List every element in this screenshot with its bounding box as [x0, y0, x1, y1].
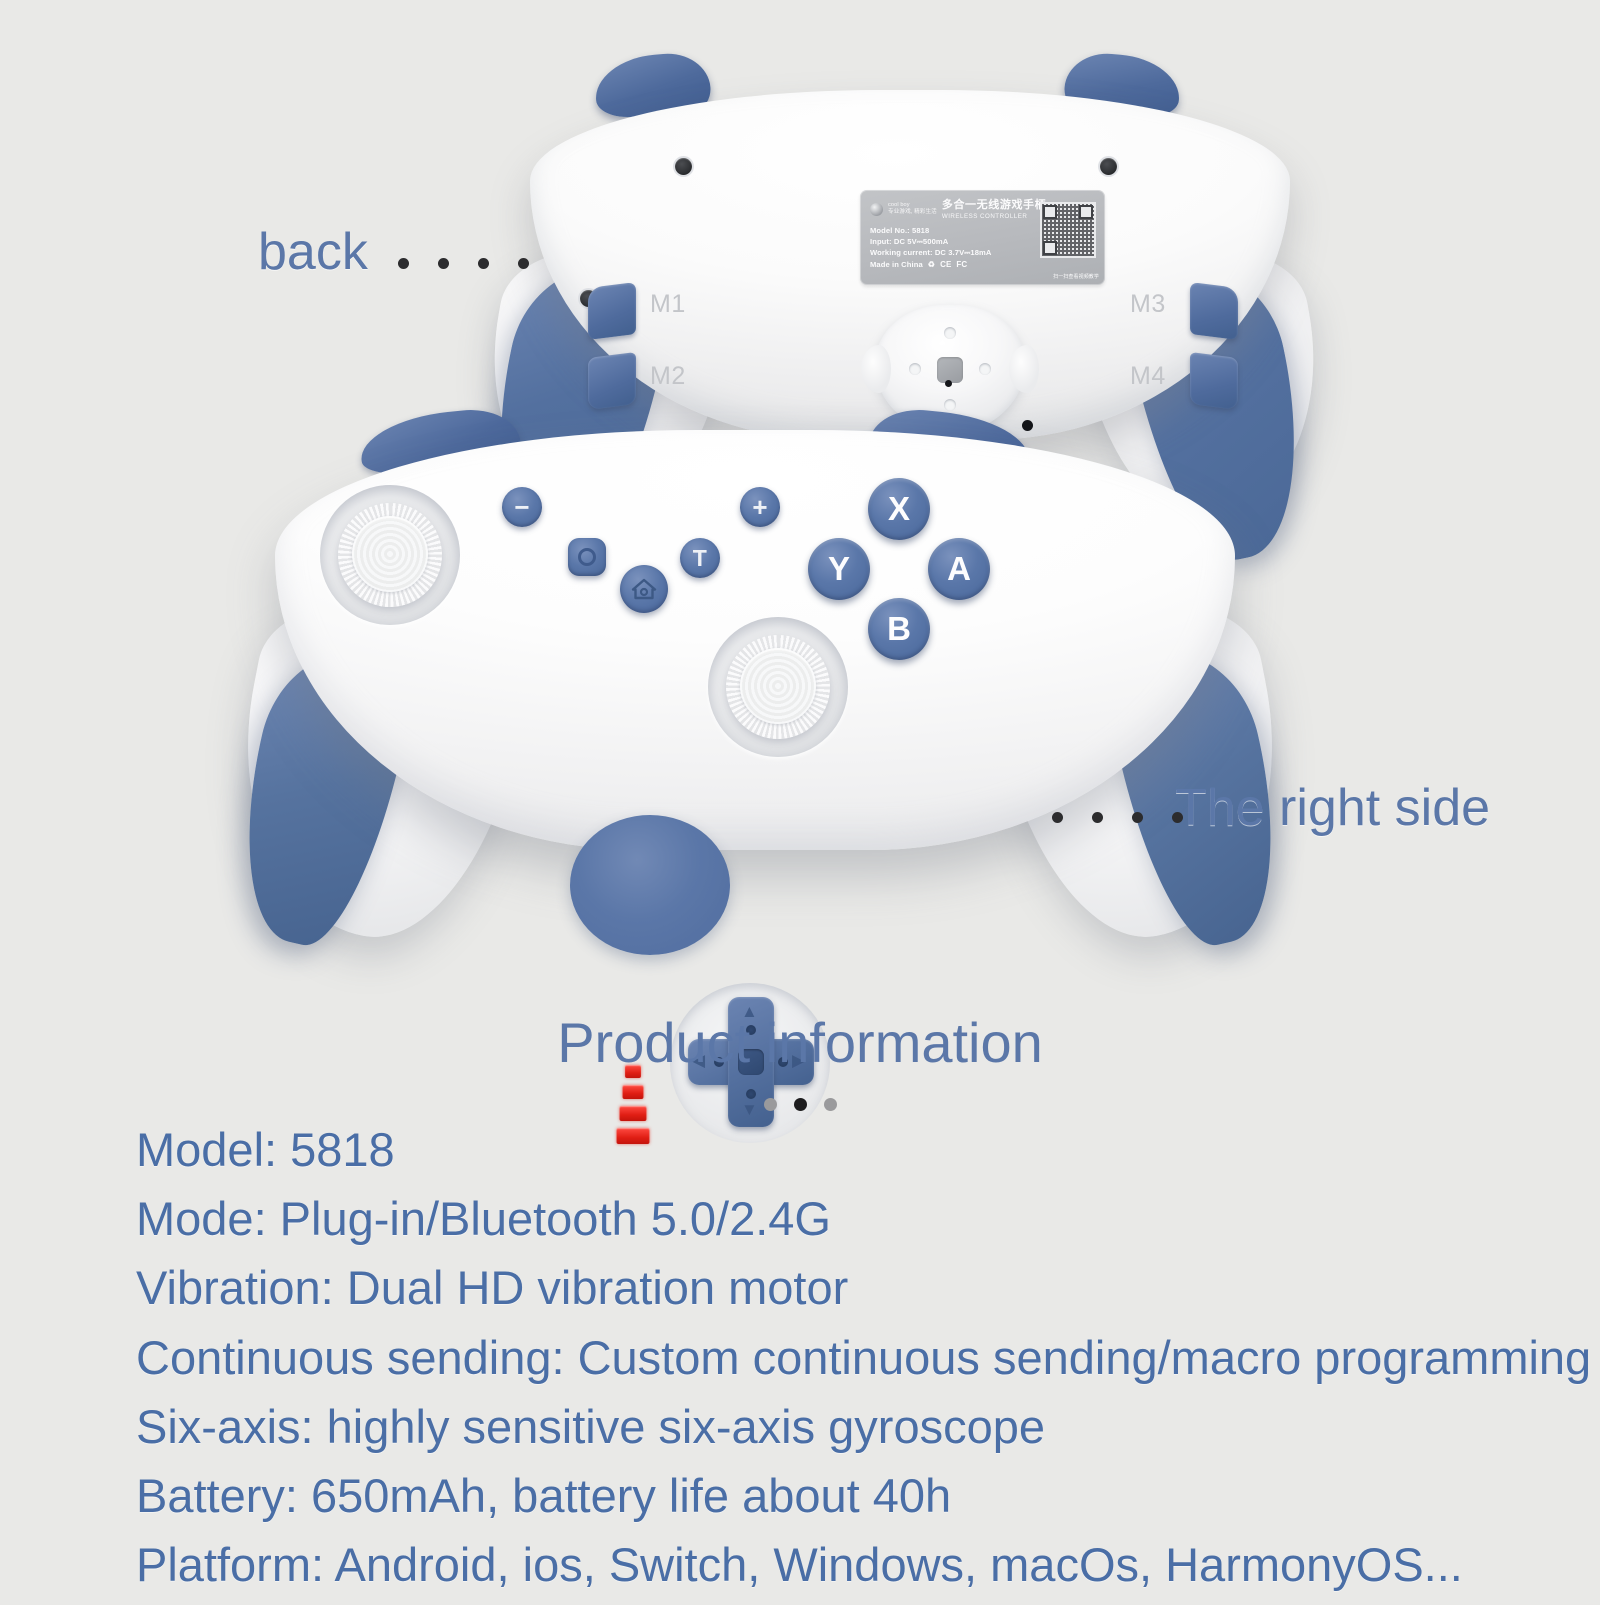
- product-rating-label: cool boy 专业游戏, 精彩生活 多合一无线游戏手柄 WIRELESS C…: [860, 190, 1105, 285]
- sensor-hole-icon: [945, 380, 952, 387]
- spec-item-mode: Mode: Plug-in/Bluetooth 5.0/2.4G: [136, 1189, 1556, 1248]
- macro-label-m4: M4: [1130, 362, 1166, 391]
- label-brand-cn: 多合一无线游戏手柄: [942, 198, 1046, 213]
- turbo-label: T: [693, 545, 708, 572]
- vent-hole: [944, 327, 956, 339]
- screw-icon: [1100, 158, 1117, 175]
- home-button[interactable]: [620, 565, 668, 613]
- spec-item-model: Model: 5818: [136, 1120, 1556, 1179]
- face-button-y[interactable]: Y: [808, 538, 870, 600]
- label-qr-caption: 扫一扫查看视频教学: [1053, 274, 1099, 281]
- capture-icon: [578, 548, 596, 566]
- face-button-b[interactable]: B: [868, 598, 930, 660]
- pad-center-square: [937, 357, 963, 383]
- specification-list: Model: 5818 Mode: Plug-in/Bluetooth 5.0/…: [136, 1120, 1556, 1605]
- fcc-mark-icon: FC: [956, 259, 967, 271]
- macro-label-m3: M3: [1130, 290, 1166, 319]
- macro-button-m1[interactable]: [588, 282, 636, 340]
- capture-button[interactable]: [568, 538, 606, 576]
- qr-code-icon: [1040, 202, 1096, 258]
- macro-button-m4[interactable]: [1190, 352, 1238, 410]
- spec-item-vibration: Vibration: Dual HD vibration motor: [136, 1258, 1556, 1317]
- ce-mark-icon: CE: [940, 259, 951, 271]
- macro-label-m2: M2: [650, 362, 686, 391]
- callout-back-dots: [398, 258, 529, 269]
- spec-item-platform: Platform: Android, ios, Switch, Windows,…: [136, 1535, 1556, 1594]
- callout-right-dots: [1052, 812, 1183, 823]
- spec-item-battery: Battery: 650mAh, battery life about 40h: [136, 1466, 1556, 1525]
- spec-item-six-axis: Six-axis: highly sensitive six-axis gyro…: [136, 1397, 1556, 1456]
- brand-logo-icon: [870, 203, 883, 216]
- label-brand-small-cn: 专业游戏, 精彩生活: [888, 209, 937, 216]
- face-button-x[interactable]: X: [868, 478, 930, 540]
- wee-bin-icon: ♻: [928, 259, 935, 271]
- vent-hole: [979, 363, 991, 375]
- spec-item-continuous: Continuous sending: Custom continuous se…: [136, 1328, 1556, 1387]
- screw-icon: [675, 158, 692, 175]
- callout-back-label: back: [258, 222, 368, 282]
- analog-stick-right[interactable]: [708, 617, 848, 757]
- home-icon: [631, 577, 657, 601]
- face-button-a[interactable]: A: [928, 538, 990, 600]
- infographic-canvas: cool boy 专业游戏, 精彩生活 多合一无线游戏手柄 WIRELESS C…: [0, 0, 1600, 1600]
- callout-right-side-label: The right side: [1175, 778, 1490, 838]
- minus-icon: −: [514, 494, 529, 520]
- plus-button[interactable]: +: [740, 487, 780, 527]
- title-decor-dots: [0, 1098, 1600, 1111]
- macro-label-m1: M1: [650, 290, 686, 319]
- vent-hole: [909, 363, 921, 375]
- controller-front-view: − + T: [230, 405, 1290, 985]
- product-information-title: Product information: [0, 1010, 1600, 1075]
- plus-icon: +: [752, 494, 767, 520]
- macro-button-m3[interactable]: [1190, 282, 1238, 340]
- analog-stick-left[interactable]: [320, 485, 460, 625]
- label-brand-en: WIRELESS CONTROLLER: [942, 213, 1046, 221]
- pad-ear-left: [861, 345, 891, 393]
- bottom-accent-oval: [570, 815, 730, 955]
- macro-button-m2[interactable]: [588, 352, 636, 410]
- minus-button[interactable]: −: [502, 487, 542, 527]
- pad-ear-right: [1009, 345, 1039, 393]
- label-origin: Made in China: [870, 259, 923, 270]
- turbo-button[interactable]: T: [680, 538, 720, 578]
